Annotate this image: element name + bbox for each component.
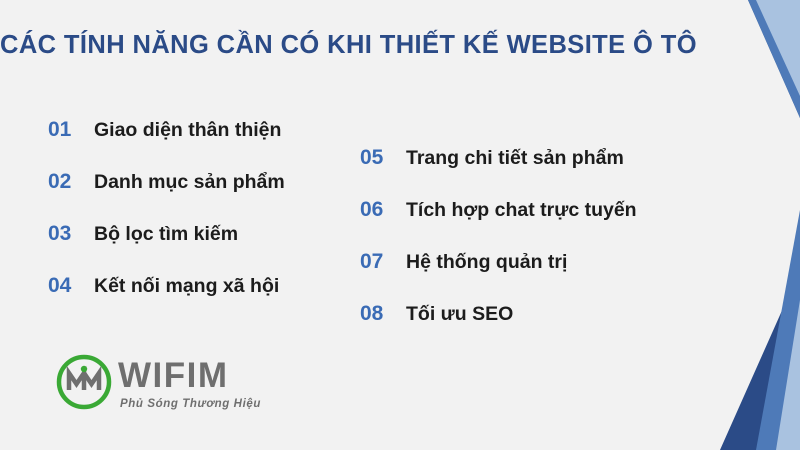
list-item: 05 Trang chi tiết sản phẩm [360,146,637,170]
item-number: 08 [360,302,406,326]
page-title: CÁC TÍNH NĂNG CẦN CÓ KHI THIẾT KẾ WEBSIT… [0,30,660,61]
item-number: 07 [360,250,406,274]
logo-wordmark: WIFIM [118,356,229,396]
logo-tagline: Phủ Sóng Thương Hiệu [120,398,261,410]
list-item: 02 Danh mục sản phẩm [48,170,285,194]
item-number: 04 [48,274,94,298]
list-item: 07 Hệ thống quản trị [360,250,637,274]
list-item: 08 Tối ưu SEO [360,302,637,326]
item-label: Giao diện thân thiện [94,119,281,142]
item-number: 01 [48,118,94,142]
slide-canvas: CÁC TÍNH NĂNG CẦN CÓ KHI THIẾT KẾ WEBSIT… [0,0,800,450]
item-label: Tích hợp chat trực tuyến [406,199,637,222]
feature-list-left: 01 Giao diện thân thiện 02 Danh mục sản … [48,118,285,298]
list-item: 04 Kết nối mạng xã hội [48,274,285,298]
item-label: Bộ lọc tìm kiếm [94,223,238,246]
logo: WIFIM Phủ Sóng Thương Hiệu [56,352,296,424]
wifim-logo-icon [56,354,112,410]
item-label: Danh mục sản phẩm [94,171,285,194]
item-label: Kết nối mạng xã hội [94,275,279,298]
item-label: Hệ thống quản trị [406,251,567,274]
list-item: 01 Giao diện thân thiện [48,118,285,142]
item-number: 03 [48,222,94,246]
item-number: 05 [360,146,406,170]
feature-list-right: 05 Trang chi tiết sản phẩm 06 Tích hợp c… [360,146,637,326]
item-number: 02 [48,170,94,194]
list-item: 06 Tích hợp chat trực tuyến [360,198,637,222]
page-title-text: CÁC TÍNH NĂNG CẦN CÓ KHI THIẾT KẾ WEBSIT… [0,30,697,61]
item-label: Tối ưu SEO [406,303,513,326]
list-item: 03 Bộ lọc tìm kiếm [48,222,285,246]
item-label: Trang chi tiết sản phẩm [406,147,624,170]
item-number: 06 [360,198,406,222]
